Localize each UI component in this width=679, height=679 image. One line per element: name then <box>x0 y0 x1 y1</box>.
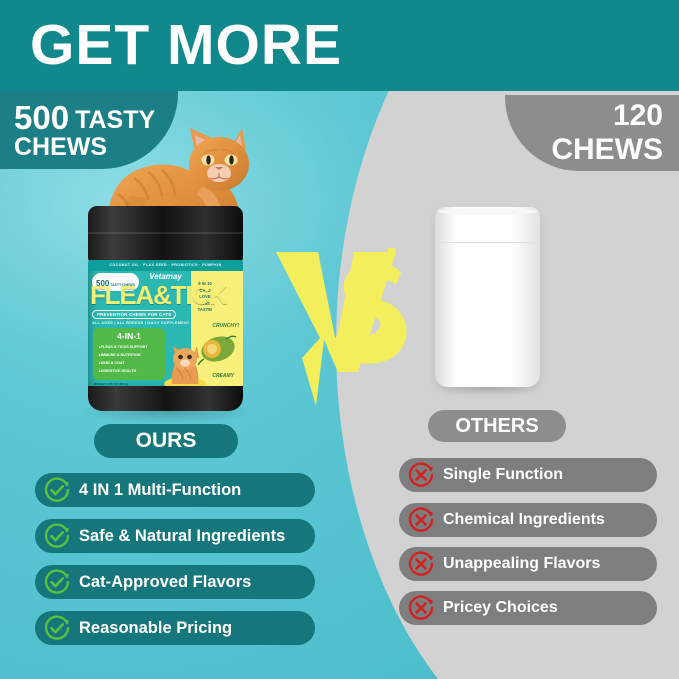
others-feature-row: Single Function <box>399 458 657 492</box>
others-feature-label: Single Function <box>443 466 563 484</box>
ours-feature-label: 4 IN 1 Multi-Function <box>79 481 241 500</box>
check-circle-icon <box>43 568 71 596</box>
jar-benefit-item: IMMUNE & NUTRITION <box>99 351 165 359</box>
jar-product-subtitle: PREVENTION CHEWS FOR CATS <box>92 310 176 319</box>
jar-benefit-item: SKIN & COAT <box>99 359 165 367</box>
jar-texture-crunchy: CRUNCHY! <box>212 323 239 329</box>
competitor-jar-body <box>435 207 540 387</box>
ours-feature-label: Reasonable Pricing <box>79 619 232 638</box>
others-feature-label: Pricey Choices <box>443 599 558 617</box>
jar-four-in-one: 4-IN-1 <box>93 331 165 341</box>
jar-benefits-box: 4-IN-1 FLEAS & TICKS SUPPORT IMMUNE & NU… <box>93 328 165 380</box>
others-feature-label: Unappealing Flavors <box>443 555 600 573</box>
others-feature-row: Pricey Choices <box>399 591 657 625</box>
ours-heading: OURS <box>94 424 238 458</box>
others-feature-label: Chemical Ingredients <box>443 511 605 529</box>
other-chews-word: CHEWS <box>551 133 663 167</box>
cross-circle-icon <box>407 550 435 578</box>
others-feature-row: Unappealing Flavors <box>399 547 657 581</box>
ours-feature-row: Safe & Natural Ingredients <box>35 519 315 553</box>
page-title: GET MORE <box>30 14 342 76</box>
check-circle-icon <box>43 614 71 642</box>
ours-feature-row: 4 IN 1 Multi-Function <box>35 473 315 507</box>
competitor-jar <box>435 207 540 387</box>
cross-circle-icon <box>407 461 435 489</box>
check-circle-icon <box>43 522 71 550</box>
competitor-jar-seam <box>437 242 538 243</box>
ours-feature-row: Cat-Approved Flavors <box>35 565 315 599</box>
jar-base <box>88 386 243 411</box>
other-chew-count: 120 <box>613 99 663 133</box>
check-circle-icon <box>43 476 71 504</box>
our-chew-count: 500 <box>14 99 69 136</box>
vs-graphic <box>262 246 427 411</box>
ours-feature-row: Reasonable Pricing <box>35 611 315 645</box>
comparison-infographic: GET MORE 500TASTY CHEWS 120 CHEWS <box>0 0 679 679</box>
competitor-jar-lid <box>438 208 537 215</box>
jar-texture-creamy: CREAMY <box>212 373 234 379</box>
others-heading: OTHERS <box>428 410 566 442</box>
jar-lid <box>88 206 243 262</box>
ours-feature-label: Safe & Natural Ingredients <box>79 527 285 546</box>
jar-benefit-item: DIGESTIVE HEALTH <box>99 367 165 375</box>
jar-cat-illustration <box>162 338 208 388</box>
jar-product-title: FLEA&TICK <box>90 282 227 308</box>
ours-feature-label: Cat-Approved Flavors <box>79 573 251 592</box>
cross-circle-icon <box>407 594 435 622</box>
others-feature-row: Chemical Ingredients <box>399 503 657 537</box>
our-product-jar: COCONUT OIL · FLAX SEED · PROBIOTICS · P… <box>88 206 243 411</box>
jar-label: COCONUT OIL · FLAX SEED · PROBIOTICS · P… <box>88 260 243 388</box>
our-chews-word: CHEWS <box>14 133 107 162</box>
jar-ingredients-strip: COCONUT OIL · FLAX SEED · PROBIOTICS · P… <box>88 260 243 271</box>
jar-product-subtitle2: ALL AGES | ALL BREEDS | DAILY SUPPLEMENT <box>92 320 190 325</box>
jar-benefit-item: FLEAS & TICKS SUPPORT <box>99 343 165 351</box>
cross-circle-icon <box>407 506 435 534</box>
